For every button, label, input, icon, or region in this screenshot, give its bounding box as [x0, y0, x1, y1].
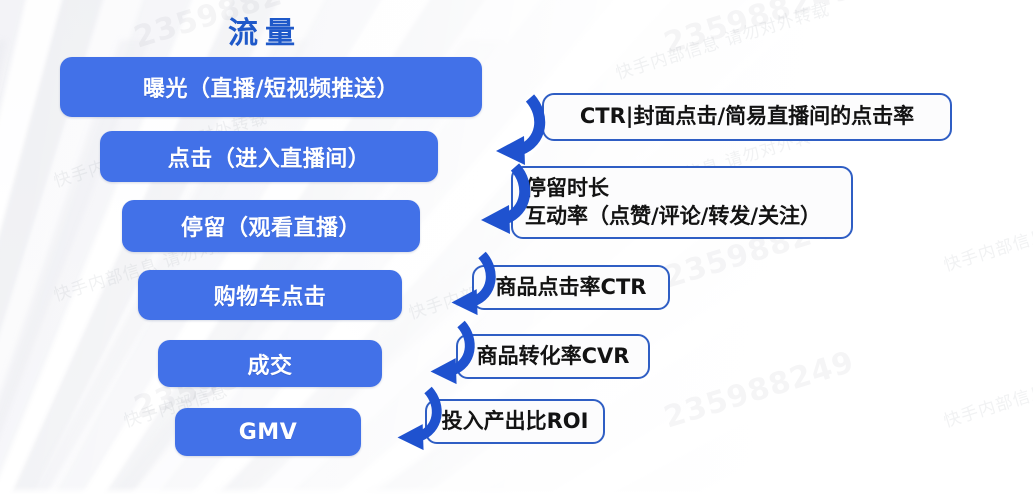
funnel-step-stay[interactable]: 停留（观看直播）	[122, 200, 420, 252]
metric-line: CTR|封面点击/简易直播间的点击率	[580, 103, 914, 131]
funnel-step-label: 成交	[247, 348, 292, 380]
funnel-step-exposure[interactable]: 曝光（直播/短视频推送）	[60, 57, 482, 117]
metric-box-ctr-cover[interactable]: CTR|封面点击/简易直播间的点击率	[542, 93, 952, 141]
funnel-step-label: 购物车点击	[214, 279, 327, 311]
bottom-fade	[0, 486, 1033, 500]
metric-box-product-ctr[interactable]: 商品点击率CTR	[472, 265, 670, 310]
metric-line: 商品转化率CVR	[477, 343, 630, 371]
funnel-step-click[interactable]: 点击（进入直播间）	[100, 131, 438, 182]
page-title: 流量	[228, 8, 302, 52]
metric-box-product-cvr[interactable]: 商品转化率CVR	[456, 334, 650, 379]
metric-box-roi[interactable]: 投入产出比ROI	[425, 399, 605, 444]
funnel-step-gmv[interactable]: GMV	[175, 408, 361, 456]
funnel-step-cart-click[interactable]: 购物车点击	[138, 270, 402, 320]
metric-box-stay-interaction[interactable]: 停留时长 互动率（点赞/评论/转发/关注）	[511, 166, 853, 239]
funnel-step-label: 点击（进入直播间）	[168, 141, 371, 173]
metric-line: 商品点击率CTR	[496, 274, 647, 302]
metric-line: 互动率（点赞/评论/转发/关注）	[525, 203, 821, 231]
funnel-step-transaction[interactable]: 成交	[158, 340, 382, 387]
funnel-step-label: GMV	[239, 420, 297, 445]
slide-canvas: 235988249 235988249 235988249 235988249 …	[0, 0, 1033, 500]
funnel-step-label: 曝光（直播/短视频推送）	[143, 71, 399, 103]
metric-line: 停留时长	[525, 175, 609, 203]
metric-line: 投入产出比ROI	[442, 408, 589, 436]
funnel-step-label: 停留（观看直播）	[181, 210, 361, 242]
